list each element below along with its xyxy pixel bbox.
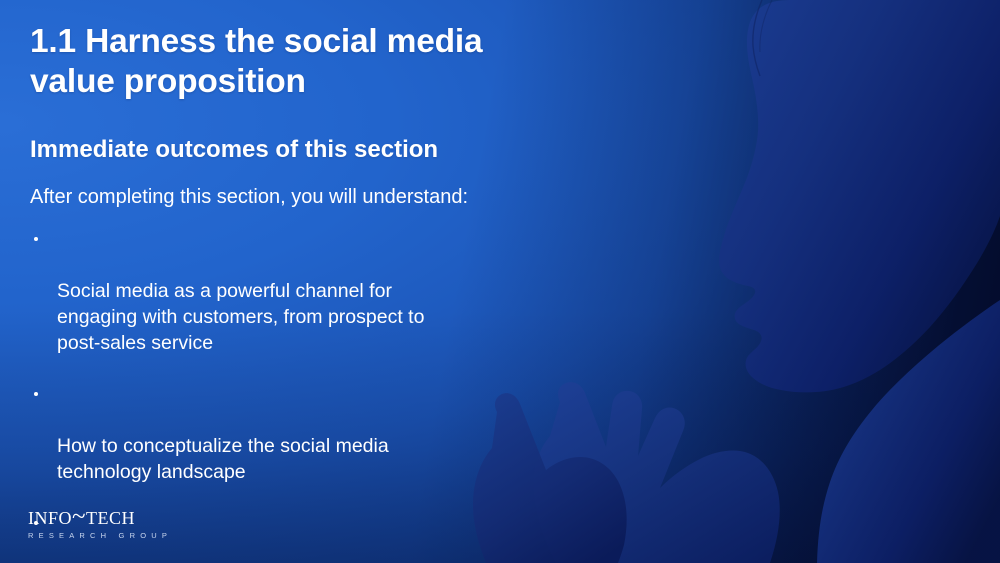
page-title: 1.1 Harness the social media value propo… <box>30 22 610 101</box>
bullet-dot-icon <box>34 237 38 241</box>
slide: 1.1 Harness the social media value propo… <box>0 0 1000 563</box>
list-item-label: How to conceptualize the social media te… <box>57 435 389 483</box>
list-item: Social media as a powerful channel for e… <box>30 228 610 357</box>
content-column: 1.1 Harness the social media value propo… <box>30 0 630 563</box>
info-tech-logo: Info~Tech RESEARCH GROUP <box>28 504 258 540</box>
logo-tagline: RESEARCH GROUP <box>28 532 258 540</box>
logo-wordmark: Info~Tech <box>28 504 258 529</box>
list-item: How to conceptualize the social media te… <box>30 383 610 486</box>
list-item-label: Social media as a powerful channel for e… <box>57 280 424 353</box>
bullet-dot-icon <box>34 392 38 396</box>
section-subtitle: Immediate outcomes of this section <box>30 136 610 165</box>
section-lead-text: After completing this section, you will … <box>30 185 620 210</box>
